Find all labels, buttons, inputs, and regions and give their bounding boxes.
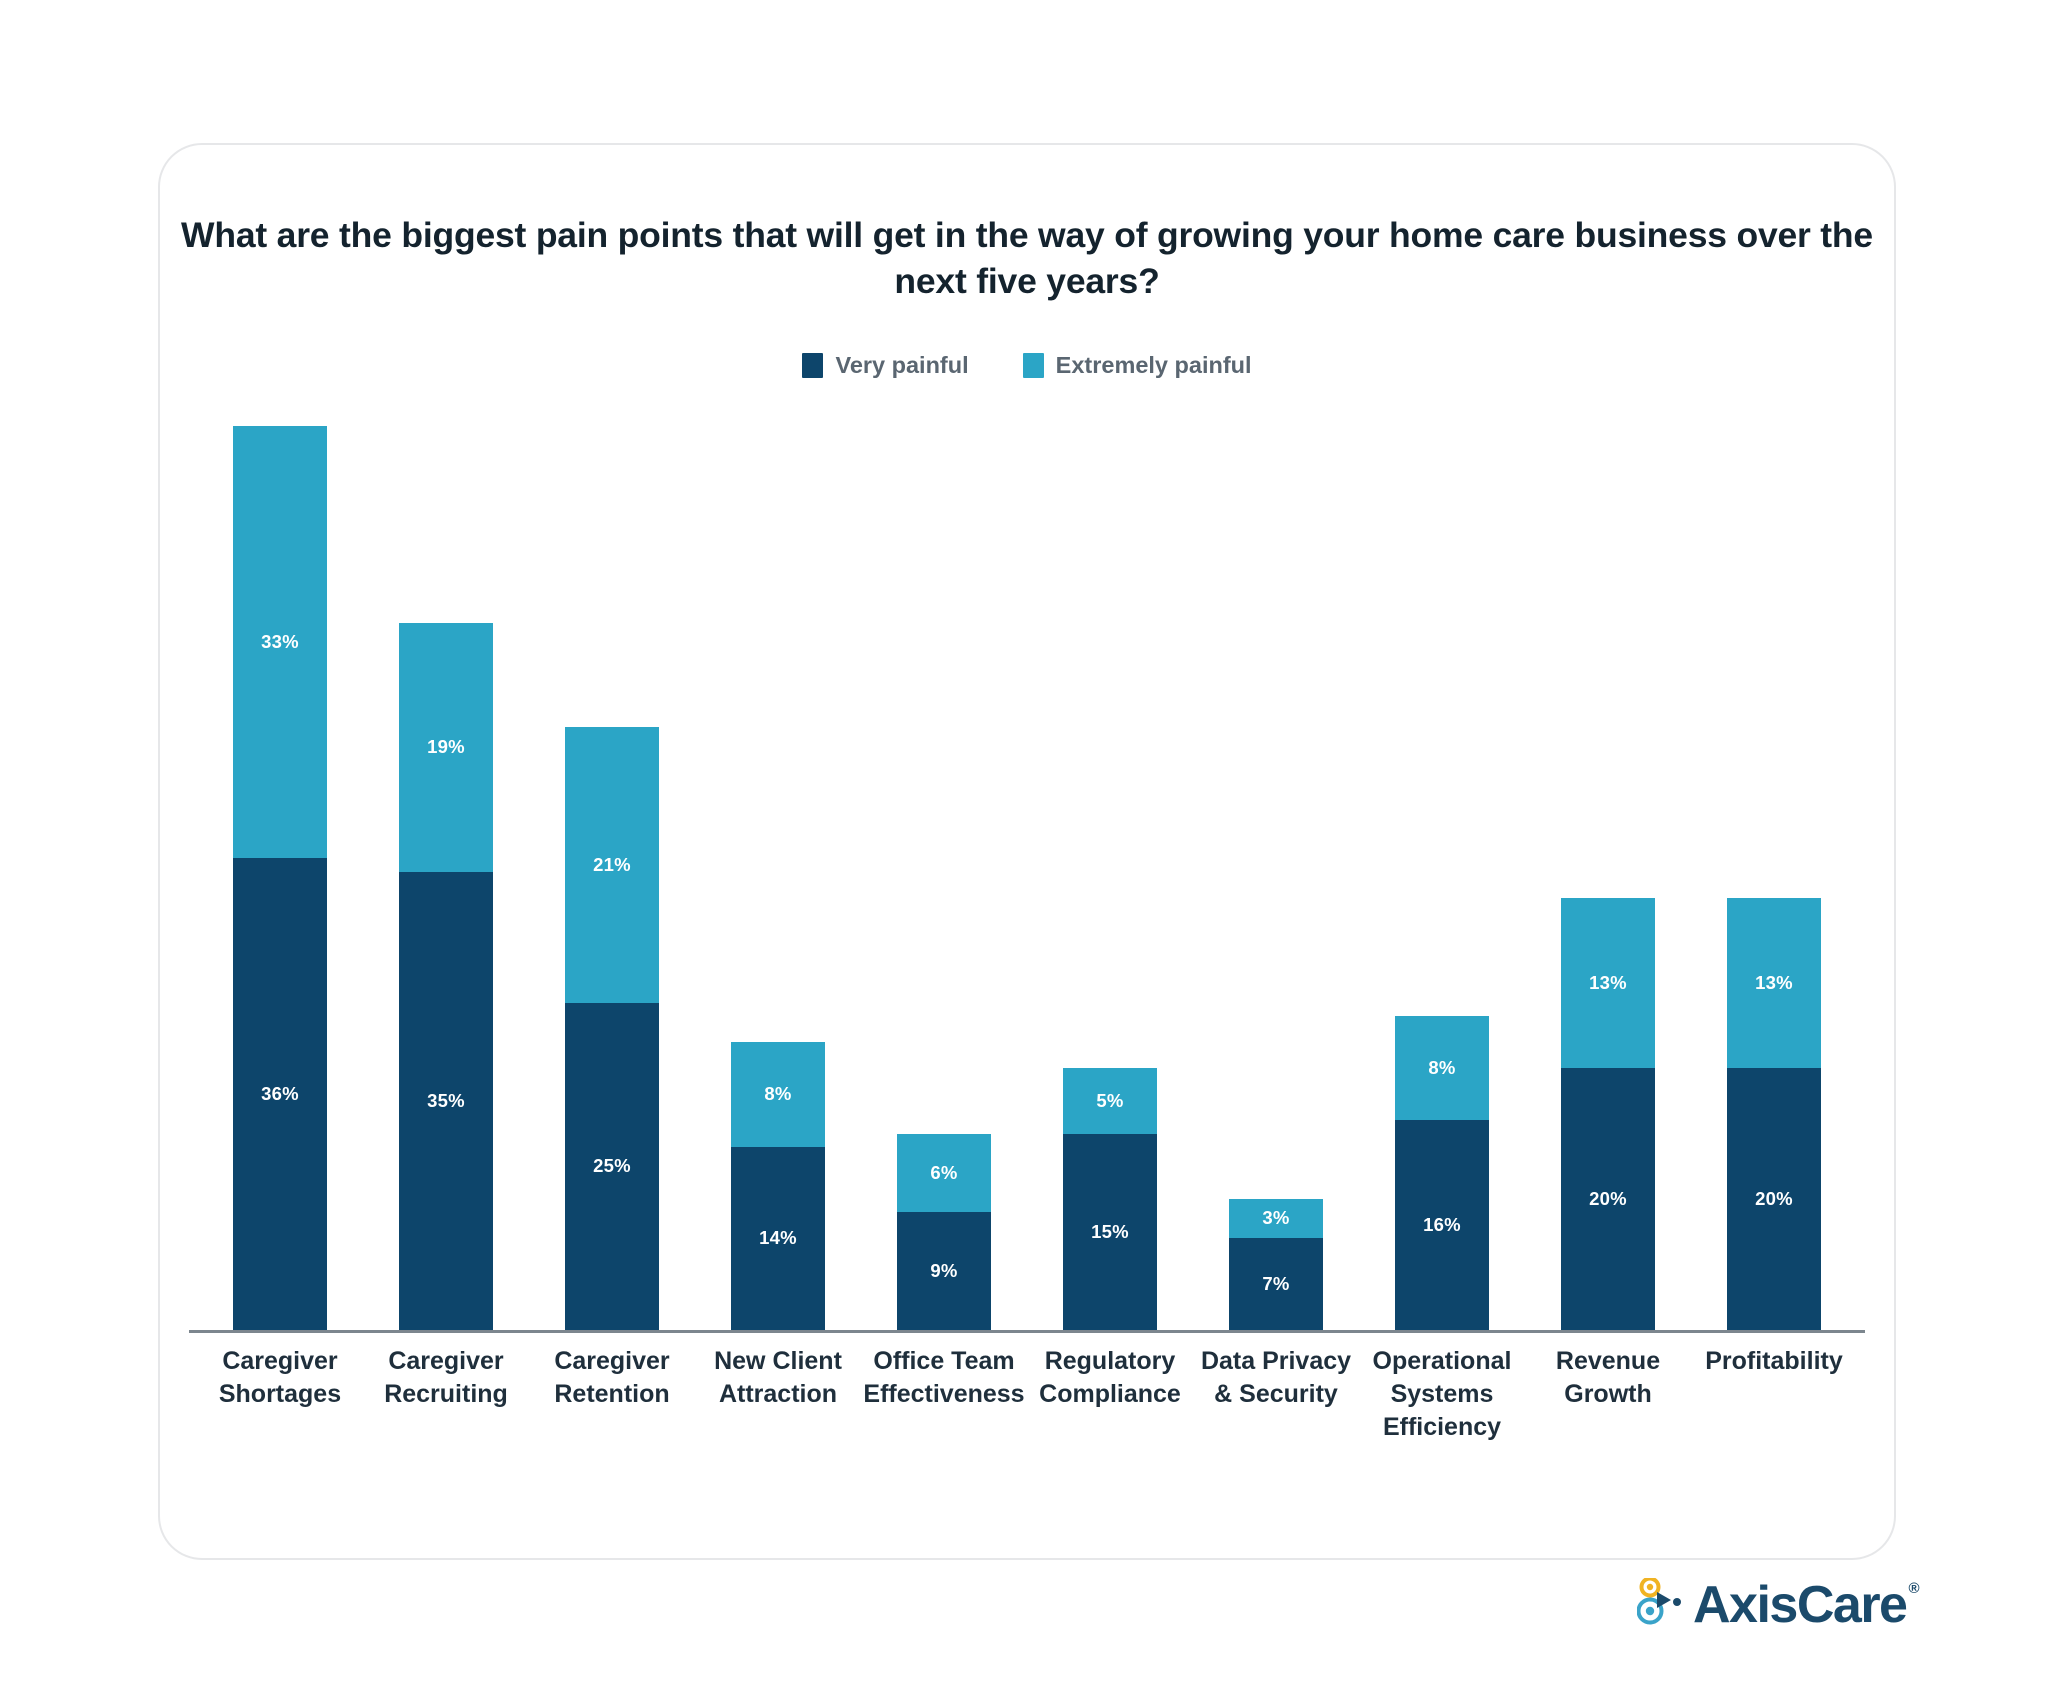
bar-stack[interactable]: 6%9% bbox=[897, 1134, 991, 1330]
legend-item-extremely-painful[interactable]: Extremely painful bbox=[1023, 352, 1252, 379]
bar-segment-very-painful[interactable]: 35% bbox=[399, 872, 493, 1330]
x-axis-category-label: Caregiver Retention bbox=[529, 1345, 695, 1444]
legend-label: Very painful bbox=[835, 352, 968, 379]
x-axis-line bbox=[189, 1330, 1865, 1333]
bar-segment-very-painful[interactable]: 14% bbox=[731, 1147, 825, 1330]
bar-segment-label: 16% bbox=[1423, 1216, 1461, 1235]
x-axis-category-label: Revenue Growth bbox=[1525, 1345, 1691, 1444]
bar-group: 19%35% bbox=[363, 400, 529, 1330]
bar-segment-label: 13% bbox=[1755, 974, 1793, 993]
bar-group: 33%36% bbox=[197, 400, 363, 1330]
bar-segment-label: 6% bbox=[930, 1164, 957, 1183]
legend-item-very-painful[interactable]: Very painful bbox=[802, 352, 968, 379]
x-axis-category-label: Profitability bbox=[1691, 1345, 1857, 1444]
bar-segment-extremely-painful[interactable]: 19% bbox=[399, 623, 493, 872]
bar-segment-label: 19% bbox=[427, 738, 465, 757]
bar-segment-very-painful[interactable]: 7% bbox=[1229, 1238, 1323, 1330]
bar-stack[interactable]: 21%25% bbox=[565, 727, 659, 1330]
bar-stack[interactable]: 33%36% bbox=[233, 426, 327, 1330]
bar-segment-label: 8% bbox=[1428, 1059, 1455, 1078]
bar-segment-label: 20% bbox=[1755, 1190, 1793, 1209]
bar-segment-label: 13% bbox=[1589, 974, 1627, 993]
bar-stack[interactable]: 8%16% bbox=[1395, 1016, 1489, 1330]
x-axis-category-label: Operational Systems Efficiency bbox=[1359, 1345, 1525, 1444]
bar-group: 6%9% bbox=[861, 400, 1027, 1330]
bar-segment-extremely-painful[interactable]: 21% bbox=[565, 727, 659, 1002]
chart-title: What are the biggest pain points that wi… bbox=[160, 212, 1894, 304]
x-axis-category-label: Caregiver Shortages bbox=[197, 1345, 363, 1444]
legend-swatch-icon bbox=[1023, 353, 1044, 378]
bar-group: 13%20% bbox=[1525, 400, 1691, 1330]
bar-segment-extremely-painful[interactable]: 13% bbox=[1727, 898, 1821, 1068]
bar-stack[interactable]: 3%7% bbox=[1229, 1199, 1323, 1330]
bar-segment-extremely-painful[interactable]: 8% bbox=[1395, 1016, 1489, 1121]
x-axis-category-label: New Client Attraction bbox=[695, 1345, 861, 1444]
bar-segment-label: 35% bbox=[427, 1092, 465, 1111]
bar-segment-label: 14% bbox=[759, 1229, 797, 1248]
bar-segment-label: 36% bbox=[261, 1085, 299, 1104]
bar-stack[interactable]: 19%35% bbox=[399, 623, 493, 1330]
legend-label: Extremely painful bbox=[1056, 352, 1252, 379]
bar-segment-very-painful[interactable]: 20% bbox=[1561, 1068, 1655, 1330]
bar-segment-label: 21% bbox=[593, 856, 631, 875]
bar-segment-very-painful[interactable]: 25% bbox=[565, 1003, 659, 1330]
bar-segment-very-painful[interactable]: 36% bbox=[233, 858, 327, 1330]
page-root: What are the biggest pain points that wi… bbox=[0, 0, 2048, 1689]
x-axis-category-label: Office Team Effectiveness bbox=[861, 1345, 1027, 1444]
bar-segment-label: 25% bbox=[593, 1157, 631, 1176]
bar-segment-extremely-painful[interactable]: 3% bbox=[1229, 1199, 1323, 1238]
bar-segment-very-painful[interactable]: 15% bbox=[1063, 1134, 1157, 1330]
registered-mark: ® bbox=[1908, 1581, 1918, 1596]
bar-segment-label: 7% bbox=[1262, 1275, 1289, 1294]
x-axis-category-label: Data Privacy & Security bbox=[1193, 1345, 1359, 1444]
brand-name-part-2: Care bbox=[1797, 1579, 1907, 1631]
bar-segment-very-painful[interactable]: 20% bbox=[1727, 1068, 1821, 1330]
bar-segment-very-painful[interactable]: 16% bbox=[1395, 1120, 1489, 1330]
bar-stack[interactable]: 13%20% bbox=[1727, 898, 1821, 1330]
chart-legend: Very painful Extremely painful bbox=[160, 352, 1894, 379]
bar-stack[interactable]: 13%20% bbox=[1561, 898, 1655, 1330]
axiscare-logo-mark-icon bbox=[1637, 1578, 1683, 1632]
bar-segment-extremely-painful[interactable]: 5% bbox=[1063, 1068, 1157, 1133]
x-axis-category-label: Regulatory Compliance bbox=[1027, 1345, 1193, 1444]
bar-group: 5%15% bbox=[1027, 400, 1193, 1330]
brand-name-part-1: Axis bbox=[1693, 1579, 1797, 1631]
bar-segment-extremely-painful[interactable]: 13% bbox=[1561, 898, 1655, 1068]
bars-row: 33%36%19%35%21%25%8%14%6%9%5%15%3%7%8%16… bbox=[189, 400, 1865, 1330]
bar-segment-label: 5% bbox=[1096, 1092, 1123, 1111]
bar-segment-label: 15% bbox=[1091, 1223, 1129, 1242]
bar-segment-label: 3% bbox=[1262, 1209, 1289, 1228]
bar-segment-label: 20% bbox=[1589, 1190, 1627, 1209]
bar-group: 13%20% bbox=[1691, 400, 1857, 1330]
bar-stack[interactable]: 5%15% bbox=[1063, 1068, 1157, 1330]
x-axis-category-labels: Caregiver ShortagesCaregiver RecruitingC… bbox=[189, 1345, 1865, 1444]
bar-segment-extremely-painful[interactable]: 33% bbox=[233, 426, 327, 858]
bar-segment-extremely-painful[interactable]: 6% bbox=[897, 1134, 991, 1213]
axiscare-wordmark: Axis Care ® bbox=[1693, 1579, 1918, 1631]
bar-group: 21%25% bbox=[529, 400, 695, 1330]
bar-group: 8%14% bbox=[695, 400, 861, 1330]
bar-stack[interactable]: 8%14% bbox=[731, 1042, 825, 1330]
x-axis-category-label: Caregiver Recruiting bbox=[363, 1345, 529, 1444]
plot-area: 33%36%19%35%21%25%8%14%6%9%5%15%3%7%8%16… bbox=[189, 400, 1865, 1330]
bar-segment-extremely-painful[interactable]: 8% bbox=[731, 1042, 825, 1147]
chart-card: What are the biggest pain points that wi… bbox=[158, 143, 1896, 1560]
axiscare-logo: Axis Care ® bbox=[1637, 1578, 1918, 1632]
bar-group: 8%16% bbox=[1359, 400, 1525, 1330]
bar-group: 3%7% bbox=[1193, 400, 1359, 1330]
bar-segment-label: 9% bbox=[930, 1262, 957, 1281]
legend-swatch-icon bbox=[802, 353, 823, 378]
bar-segment-label: 33% bbox=[261, 633, 299, 652]
bar-segment-label: 8% bbox=[764, 1085, 791, 1104]
bar-segment-very-painful[interactable]: 9% bbox=[897, 1212, 991, 1330]
